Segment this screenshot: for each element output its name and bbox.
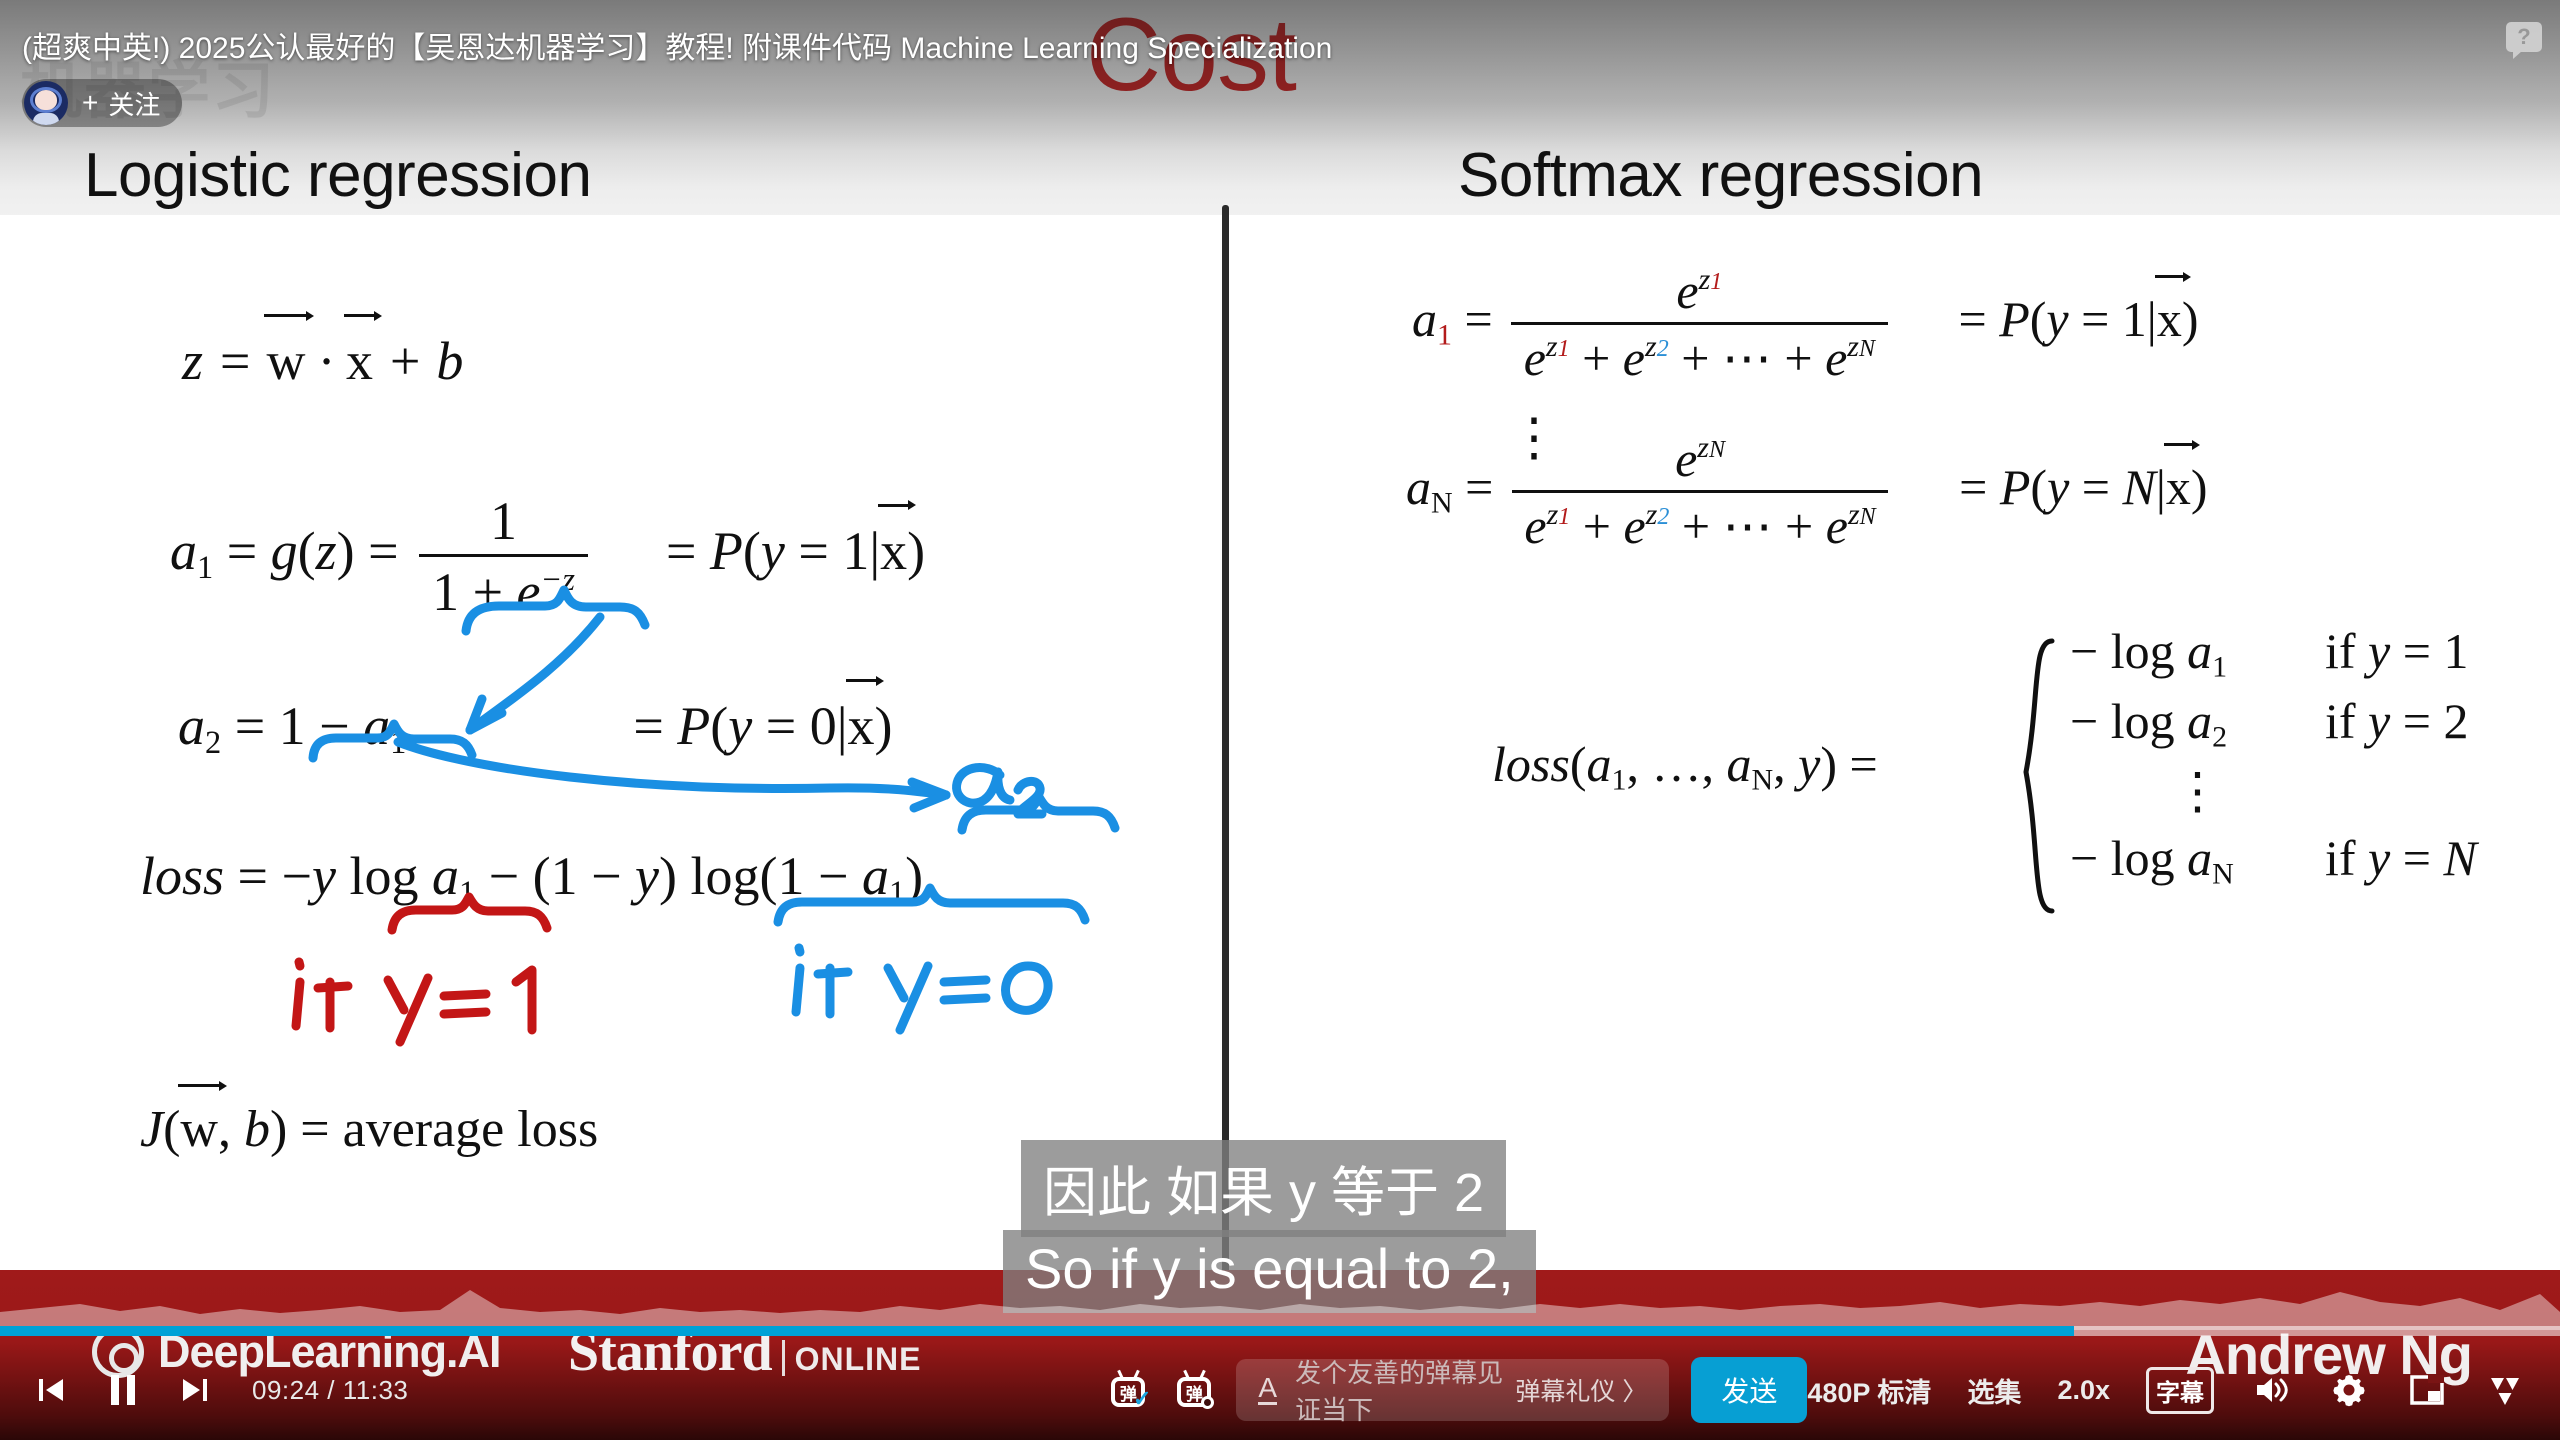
danmaku-etiquette-link[interactable]: 弹幕礼仪 〉 [1515,1372,1647,1408]
equation-logistic-loss: loss = −y log a1 − (1 − y) log(1 − a1) [140,845,923,912]
softmax-loss-cases: − log a1 if y = 1 − log a2 if y = 2 ⋮ − … [2010,618,2477,895]
next-episode-icon[interactable] [174,1369,216,1411]
player-controls: 09:24 / 11:33 弹 ✓ 弹 A 发个友善的弹幕见证当下 弹幕礼仪 〉 [0,1290,2560,1440]
playback-speed-button[interactable]: 2.0x [2057,1375,2110,1406]
equation-cost-J: J(w, b) = average loss [140,1100,598,1159]
progress-played [0,1326,2074,1336]
web-fullscreen-icon[interactable] [2484,1369,2526,1411]
plus-icon: + [82,87,98,119]
heading-softmax-regression: Softmax regression [1458,140,1983,211]
control-bar: 09:24 / 11:33 弹 ✓ 弹 A 发个友善的弹幕见证当下 弹幕礼仪 〉 [0,1340,2560,1440]
follow-label: 关注 [108,85,160,122]
time-display: 09:24 / 11:33 [252,1375,408,1406]
volume-icon[interactable] [2250,1369,2292,1411]
gear-icon[interactable] [2328,1369,2370,1411]
danmaku-input-area[interactable]: A 发个友善的弹幕见证当下 弹幕礼仪 〉 [1236,1359,1669,1421]
cases-brace [2010,637,2056,877]
video-title: (超爽中英!) 2025公认最好的【吴恩达机器学习】教程! 附课件代码 Mach… [22,23,1332,67]
equation-a1-sigmoid: a1 = g(z) = 1 1 + e−z = P(y = 1|x) [170,490,925,623]
danmaku-style-icon[interactable]: A [1258,1375,1277,1406]
picture-in-picture-icon[interactable] [2406,1369,2448,1411]
heading-logistic-regression: Logistic regression [84,140,591,211]
danmaku-toggle-icon[interactable]: 弹 ✓ [1108,1370,1148,1410]
danmaku-toggle-group: 弹 ✓ 弹 [1108,1370,1214,1410]
quality-selector[interactable]: 480P 标清 [1807,1371,1931,1410]
follow-button[interactable]: + 关注 [22,79,182,127]
danmaku-settings-icon[interactable]: 弹 [1174,1370,1214,1410]
equation-softmax-loss-lhs: loss(a1, …, aN, y) = [1492,735,1878,797]
send-danmaku-button[interactable]: 发送 [1691,1357,1807,1423]
case-row-1: − log a1 if y = 1 [2070,618,2477,688]
danmaku-enabled-check-icon: ✓ [1133,1386,1151,1412]
pause-icon[interactable] [102,1369,144,1411]
control-left-group: 09:24 / 11:33 [0,1369,408,1411]
episodes-button[interactable]: 选集 [1967,1371,2021,1410]
case-row-vdots: ⋮ [2070,758,2477,826]
subtitle-button[interactable]: 字幕 [2146,1367,2214,1414]
slide-vertical-divider [1222,205,1229,1295]
equation-softmax-a1: a1 = ez1 ez1 + ez2 + ⋯ + ezN = P(y = 1|x… [1412,262,2198,387]
equation-softmax-aN: aN = ezN ez1 + ez2 + ⋯ + ezN = P(y = N|x… [1406,430,2208,555]
equation-z: z = w · x + b [182,330,463,392]
case-row-2: − log a2 if y = 2 [2070,688,2477,758]
uploader-avatar[interactable] [24,81,68,125]
case-row-n: − log aN if y = N [2070,825,2477,895]
danmaku-input[interactable]: 发个友善的弹幕见证当下 [1295,1353,1515,1427]
control-right-group: 480P 标清 选集 2.0x 字幕 [1807,1367,2560,1414]
equation-a2: a2 = 1 − a1 = P(y = 0|x) [178,695,893,762]
video-player-page: 机器学习 Cost Logistic regression Softmax re… [0,0,2560,1440]
previous-episode-icon[interactable] [30,1369,72,1411]
progress-bar[interactable] [0,1326,2560,1336]
subtitle-chinese: 因此 如果 y 等于 2 [1021,1140,1506,1237]
help-bubble-icon[interactable]: ? [2506,22,2542,52]
popularity-heatmap [0,1286,2560,1330]
